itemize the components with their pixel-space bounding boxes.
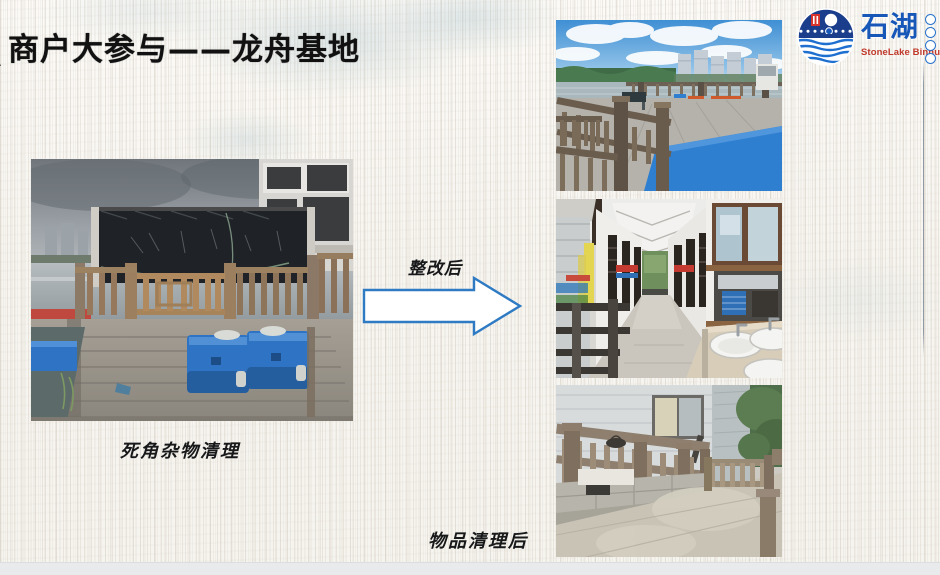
before-caption: 死角杂物清理 <box>120 437 240 463</box>
title-list-marker: 、 <box>0 41 8 71</box>
stonelake-logo: 石湖 StoneLake Binhu Spot <box>795 6 940 70</box>
vertical-divider <box>923 60 924 356</box>
after-photo-1 <box>556 20 782 191</box>
after-photo-2 <box>556 199 782 378</box>
slide-canvas: 、 商户大参与——龙舟基地 <box>0 0 940 562</box>
after-photo-1-image <box>556 20 782 191</box>
page-title: 、 商户大参与——龙舟基地 <box>0 24 520 76</box>
transition-arrow: 整改后 <box>362 276 524 336</box>
before-photo-image <box>31 159 353 421</box>
right-arrow-icon <box>362 276 524 336</box>
logo-dot-decoration <box>925 14 940 54</box>
before-photo <box>31 159 353 421</box>
after-photo-3 <box>556 385 782 557</box>
page-title-text: 商户大参与——龙舟基地 <box>8 35 360 66</box>
after-photo-3-image <box>556 385 782 557</box>
logo-chinese-name: 石湖 <box>861 12 919 42</box>
after-caption: 物品清理后 <box>428 527 528 553</box>
stonelake-emblem-icon <box>795 8 857 66</box>
bottom-chrome-bar <box>0 562 940 575</box>
arrow-label: 整改后 <box>408 254 462 279</box>
after-photo-2-image <box>556 199 782 378</box>
